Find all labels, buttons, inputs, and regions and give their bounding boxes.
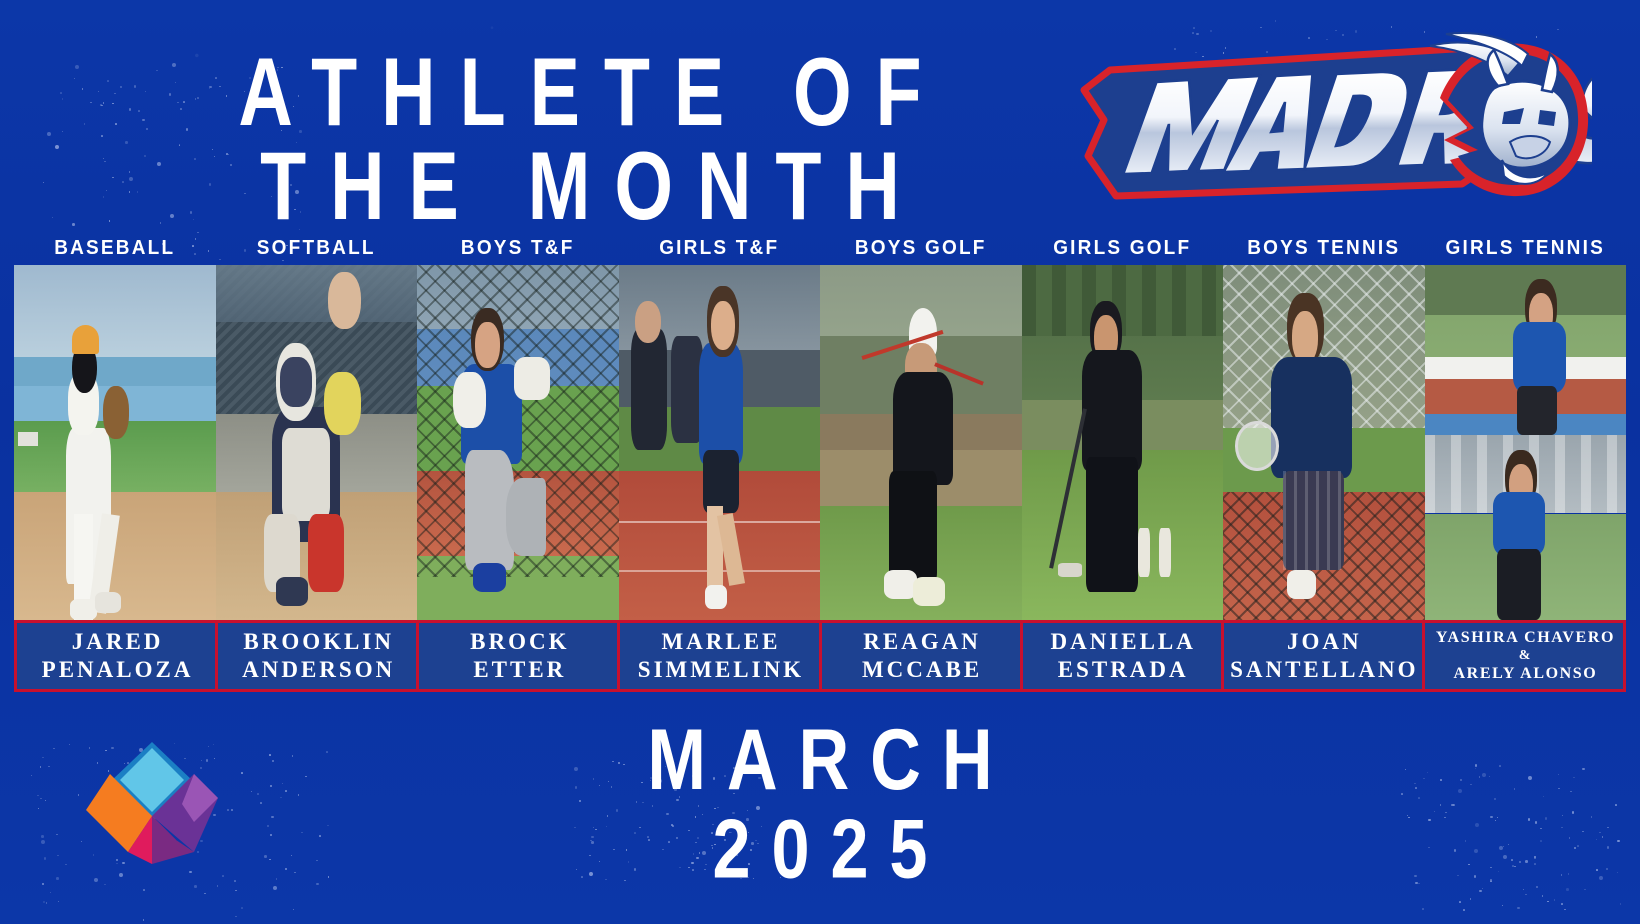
- athlete-first-name: DANIELLA: [1047, 628, 1195, 656]
- athlete-of-the-month-poster: ATHLETE OF THE MONTH: [0, 0, 1640, 924]
- athlete-photo-0: [14, 265, 216, 620]
- athlete-photo-1: [216, 265, 418, 620]
- athlete-photo-5: [1022, 265, 1224, 620]
- athlete-first-name: BROCK: [467, 628, 569, 656]
- gem-chevron-logo-icon: [86, 730, 218, 864]
- madras-logo: [1052, 24, 1592, 210]
- athlete-first-name: MARLEE: [658, 628, 780, 656]
- sport-label-boys-golf: BOYS GOLF: [820, 237, 1022, 265]
- athlete-last-name: ARELY ALONSO: [1451, 664, 1598, 684]
- page-title: ATHLETE OF THE MONTH: [180, 46, 980, 220]
- athlete-name-plate: JOANSANTELLANO: [1221, 620, 1425, 692]
- sport-label-boys-t-f: BOYS T&F: [417, 237, 619, 265]
- sport-label-softball: SOFTBALL: [216, 237, 418, 265]
- athlete-photo-4: [820, 265, 1022, 620]
- athlete-photo-strip: [14, 265, 1626, 620]
- sport-label-girls-t-f: GIRLS T&F: [619, 237, 821, 265]
- athlete-photo-3: [619, 265, 821, 620]
- athlete-last-name: ESTRADA: [1055, 656, 1189, 684]
- athlete-first-name: YASHIRA CHAVERO: [1433, 628, 1615, 648]
- athlete-photo-2: [417, 265, 619, 620]
- athlete-first-name: REAGAN: [860, 628, 981, 656]
- sport-label-row: BASEBALLSOFTBALLBOYS T&FGIRLS T&FBOYS GO…: [14, 238, 1626, 264]
- athlete-name-plate: DANIELLAESTRADA: [1020, 620, 1224, 692]
- athlete-first-name: BROOKLIN: [240, 628, 394, 656]
- title-line-1: ATHLETE OF: [212, 46, 948, 140]
- sport-label-girls-tennis: GIRLS TENNIS: [1425, 237, 1627, 265]
- athlete-photo-6: [1223, 265, 1425, 620]
- month-label: MARCH: [440, 718, 1200, 802]
- athlete-name-plate: BROOKLINANDERSON: [215, 620, 419, 692]
- athlete-name-plate: REAGANMCCABE: [819, 620, 1023, 692]
- athlete-photo-7: [1425, 265, 1627, 620]
- title-line-2: THE MONTH: [212, 140, 948, 234]
- athlete-first-name: JARED: [69, 628, 164, 656]
- athlete-last-name: PENALOZA: [39, 656, 194, 684]
- sport-label-baseball: BASEBALL: [14, 237, 216, 265]
- year-label: 2025: [440, 808, 1200, 892]
- sport-label-girls-golf: GIRLS GOLF: [1022, 237, 1224, 265]
- athlete-name-plate: BROCKETTER: [416, 620, 620, 692]
- athlete-last-name: ANDERSON: [239, 656, 395, 684]
- athlete-name-plate: JAREDPENALOZA: [14, 620, 218, 692]
- month-block: MARCH 2025: [420, 718, 1220, 880]
- athlete-name-strip: JAREDPENALOZABROOKLINANDERSONBROCKETTERM…: [14, 620, 1626, 692]
- athlete-last-name: ETTER: [470, 656, 566, 684]
- athlete-last-name: SIMMELINK: [635, 656, 804, 684]
- sport-label-boys-tennis: BOYS TENNIS: [1223, 237, 1425, 265]
- athlete-last-name: MCCABE: [859, 656, 982, 684]
- athlete-first-name: JOAN: [1284, 628, 1362, 656]
- athlete-name-plate: MARLEESIMMELINK: [617, 620, 821, 692]
- athlete-last-name: SANTELLANO: [1227, 656, 1418, 684]
- athlete-name-separator: &: [1516, 648, 1532, 664]
- athlete-name-plate: YASHIRA CHAVERO&ARELY ALONSO: [1422, 620, 1626, 692]
